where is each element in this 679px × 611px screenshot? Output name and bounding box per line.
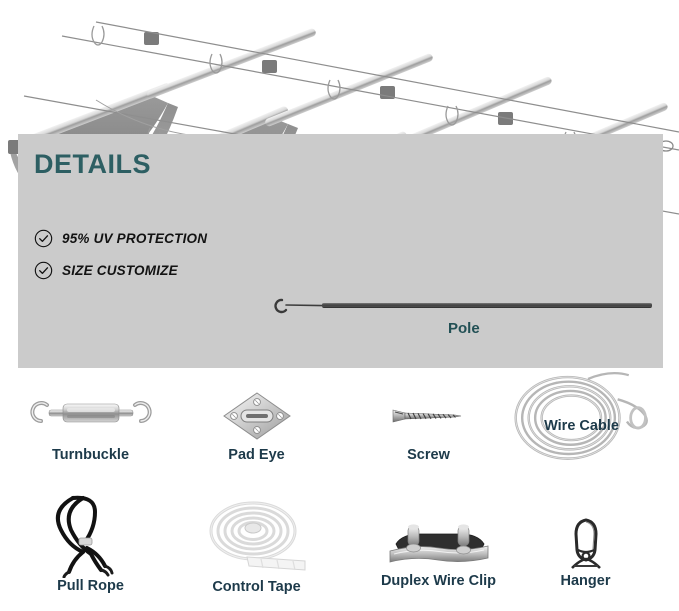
wire-cable-art (499, 380, 664, 452)
accessory-label: Screw (346, 447, 511, 463)
accessory-item-screw: Screw (346, 385, 511, 463)
pull-rope-icon (39, 490, 143, 578)
screw-icon (389, 401, 469, 431)
accessory-item-duplex-wire-clip: Duplex Wire Clip (356, 515, 521, 589)
turnbuckle-icon (27, 393, 155, 439)
feature-item-size-customize: SIZE CUSTOMIZE (34, 261, 178, 280)
pole-icon (266, 292, 656, 320)
accessory-label: Turnbuckle (8, 447, 173, 463)
pull-rope-art (8, 490, 173, 578)
control-tape-art (174, 495, 339, 579)
accessory-item-pad-eye: Pad Eye (174, 385, 339, 463)
pole-label: Pole (448, 320, 480, 337)
accessory-item-turnbuckle: Turnbuckle (8, 385, 173, 463)
accessory-label: Hanger (503, 573, 668, 589)
accessory-item-hanger: Hanger (503, 515, 668, 589)
turnbuckle-art (8, 385, 173, 447)
duplex-wire-clip-art (356, 515, 521, 573)
accessory-label: Wire Cable (499, 418, 664, 434)
feature-label: SIZE CUSTOMIZE (62, 263, 178, 278)
accessory-label: Control Tape (174, 579, 339, 595)
feature-item-uv-protection: 95% UV PROTECTION (34, 229, 207, 248)
accessory-label: Pull Rope (8, 578, 173, 594)
hanger-icon (562, 516, 610, 572)
check-circle-icon (34, 229, 53, 248)
wire-cable-icon (499, 360, 664, 472)
check-circle-icon (34, 261, 53, 280)
accessory-label: Pad Eye (174, 447, 339, 463)
feature-label: 95% UV PROTECTION (62, 231, 207, 246)
accessory-item-pull-rope: Pull Rope (8, 490, 173, 594)
hanger-art (503, 515, 668, 573)
accessory-item-control-tape: Control Tape (174, 495, 339, 595)
pad-eye-art (174, 385, 339, 447)
duplex-wire-clip-icon (380, 518, 498, 570)
details-panel: DETAILS 95% UV PROTECTION SIZE CUSTOMIZE (18, 134, 663, 368)
accessory-item-wire-cable: Wire Cable (499, 380, 664, 468)
accessory-label: Duplex Wire Clip (356, 573, 521, 589)
screw-art (346, 385, 511, 447)
page-title: DETAILS (34, 149, 151, 180)
pad-eye-icon (219, 390, 295, 442)
control-tape-icon (201, 495, 313, 579)
